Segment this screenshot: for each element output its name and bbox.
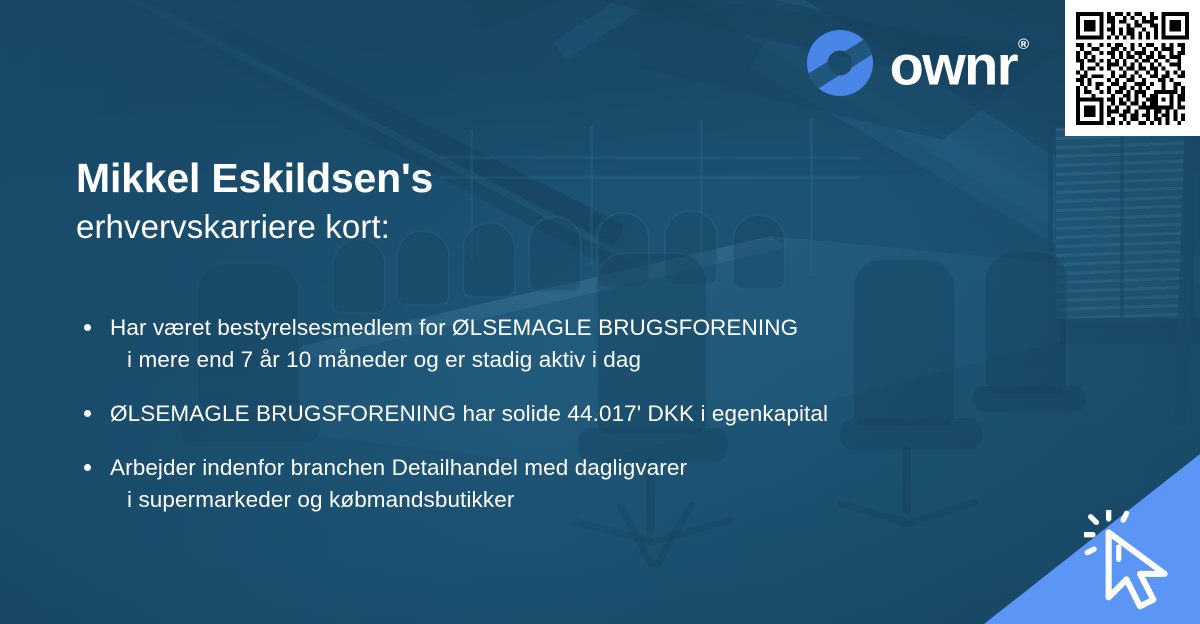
page-title: Mikkel Eskildsen's erhvervskarriere kort…	[76, 152, 433, 250]
list-item: ØLSEMAGLE BRUGSFORENING har solide 44.01…	[84, 398, 1024, 430]
qr-code[interactable]	[1065, 0, 1200, 136]
ownr-wordmark: ownr®	[890, 33, 1028, 94]
page-title-line-2: erhvervskarriere kort:	[76, 204, 433, 250]
highlights-list: Har været bestyrelsesmedlem for ØLSEMAGL…	[84, 312, 1024, 538]
business-card-image: ownr®	[0, 0, 1200, 624]
click-cursor-icon	[1084, 510, 1196, 622]
list-item-line: ØLSEMAGLE BRUGSFORENING har solide 44.01…	[110, 398, 1024, 430]
bullet-dot-icon	[84, 410, 91, 417]
list-item-line: Arbejder indenfor branchen Detailhandel …	[110, 452, 1024, 484]
registered-trademark-icon: ®	[1018, 36, 1029, 53]
list-item-line: i supermarkeder og købmandsbutikker	[110, 484, 1024, 516]
qr-code-icon	[1076, 12, 1189, 125]
page-title-line-1: Mikkel Eskildsen's	[76, 152, 433, 204]
list-item-line: i mere end 7 år 10 måneder og er stadig …	[110, 344, 1024, 376]
ownr-wordmark-text: ownr	[890, 33, 1017, 96]
list-item-line: Har været bestyrelsesmedlem for ØLSEMAGL…	[110, 312, 1024, 344]
ownr-logo[interactable]: ownr®	[807, 30, 1028, 96]
list-item: Har været bestyrelsesmedlem for ØLSEMAGL…	[84, 312, 1024, 376]
ownr-swirl-logo-icon	[807, 30, 873, 96]
bullet-dot-icon	[84, 464, 91, 471]
list-item: Arbejder indenfor branchen Detailhandel …	[84, 452, 1024, 516]
bullet-dot-icon	[84, 324, 91, 331]
corner-call-to-action[interactable]	[984, 454, 1200, 624]
